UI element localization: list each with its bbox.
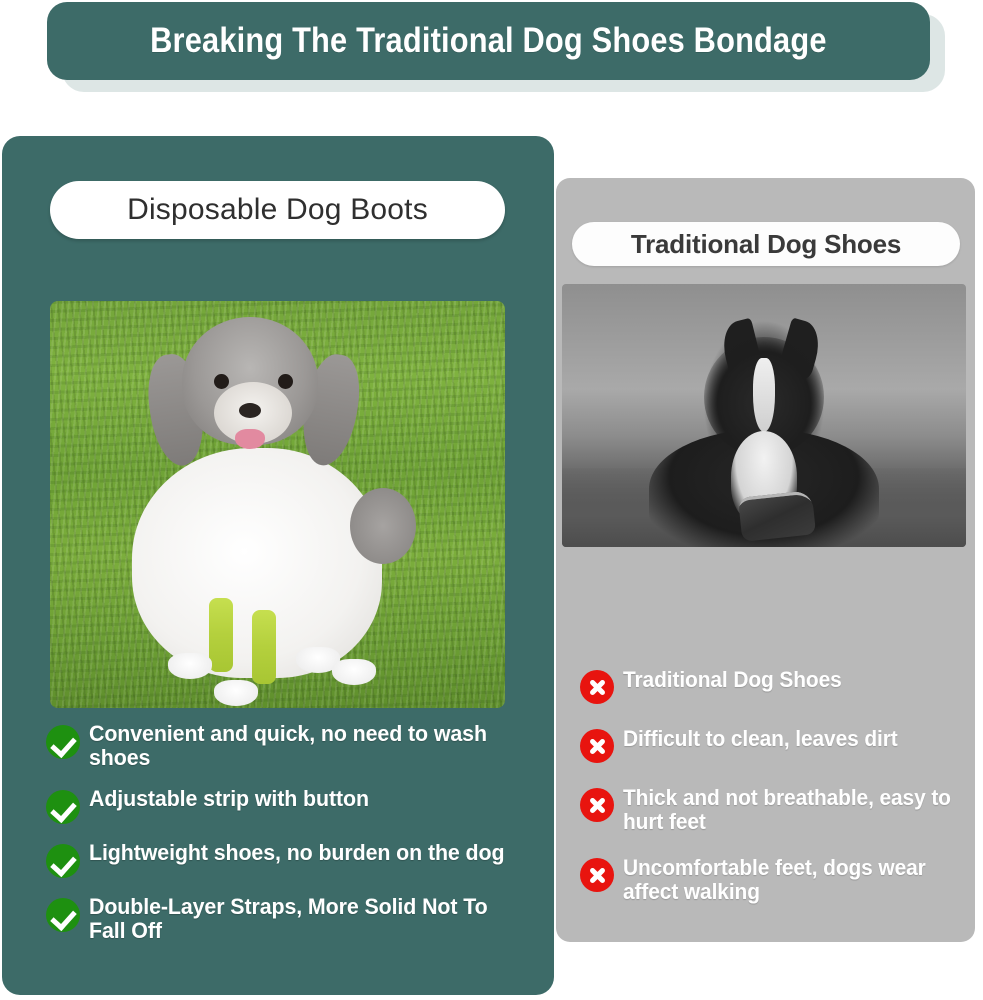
- disposable-panel-heading: Disposable Dog Boots: [127, 193, 428, 227]
- list-item: Convenient and quick, no need to wash sh…: [46, 722, 546, 770]
- list-item-label: Convenient and quick, no need to wash sh…: [89, 722, 523, 770]
- list-item-label: Double-Layer Straps, More Solid Not To F…: [89, 895, 523, 943]
- page-title: Breaking The Traditional Dog Shoes Bonda…: [150, 21, 827, 61]
- check-icon: [46, 725, 80, 759]
- x-icon: [580, 858, 614, 892]
- x-icon: [580, 788, 614, 822]
- list-item: Thick and not breathable, easy to hurt f…: [580, 786, 972, 833]
- list-item-label: Difficult to clean, leaves dirt: [623, 727, 898, 751]
- disposable-dog-photo: [50, 301, 505, 708]
- list-item-label: Uncomfortable feet, dogs wear affect wal…: [623, 856, 955, 903]
- photo-green-boot-right: [252, 610, 276, 684]
- list-item: Adjustable strip with button: [46, 787, 546, 824]
- photo-dog-blaze: [753, 358, 775, 432]
- photo-dog-eye-left: [214, 374, 229, 389]
- x-icon: [580, 670, 614, 704]
- infographic-root: Breaking The Traditional Dog Shoes Bonda…: [0, 0, 983, 1000]
- photo-dog-nose: [239, 403, 261, 418]
- check-icon: [46, 844, 80, 878]
- traditional-feature-list: Traditional Dog Shoes Difficult to clean…: [580, 668, 972, 926]
- check-icon: [46, 898, 80, 932]
- list-item: Difficult to clean, leaves dirt: [580, 727, 972, 763]
- photo-dog-eye-right: [278, 374, 293, 389]
- list-item: Uncomfortable feet, dogs wear affect wal…: [580, 856, 972, 903]
- photo-green-boot-left: [209, 598, 233, 672]
- photo-dog-boot: [738, 491, 816, 542]
- list-item: Traditional Dog Shoes: [580, 668, 972, 704]
- photo-white-sock-b: [214, 680, 258, 706]
- traditional-panel-heading-pill: Traditional Dog Shoes: [572, 222, 960, 266]
- list-item-label: Lightweight shoes, no burden on the dog: [89, 841, 504, 865]
- x-icon: [580, 729, 614, 763]
- list-item-label: Thick and not breathable, easy to hurt f…: [623, 786, 955, 833]
- list-item-label: Adjustable strip with button: [89, 787, 369, 811]
- list-item-label: Traditional Dog Shoes: [623, 668, 842, 692]
- traditional-panel: Traditional Dog Shoes Traditional Dog Sh…: [556, 178, 975, 942]
- list-item: Double-Layer Straps, More Solid Not To F…: [46, 895, 546, 943]
- disposable-feature-list: Convenient and quick, no need to wash sh…: [46, 722, 546, 960]
- disposable-panel: Disposable Dog Boots Convenient and: [2, 136, 554, 995]
- traditional-panel-heading: Traditional Dog Shoes: [631, 229, 901, 260]
- check-icon: [46, 790, 80, 824]
- disposable-panel-heading-pill: Disposable Dog Boots: [50, 181, 505, 239]
- list-item: Lightweight shoes, no burden on the dog: [46, 841, 546, 878]
- traditional-dog-photo: [562, 284, 966, 547]
- header-banner: Breaking The Traditional Dog Shoes Bonda…: [47, 2, 930, 80]
